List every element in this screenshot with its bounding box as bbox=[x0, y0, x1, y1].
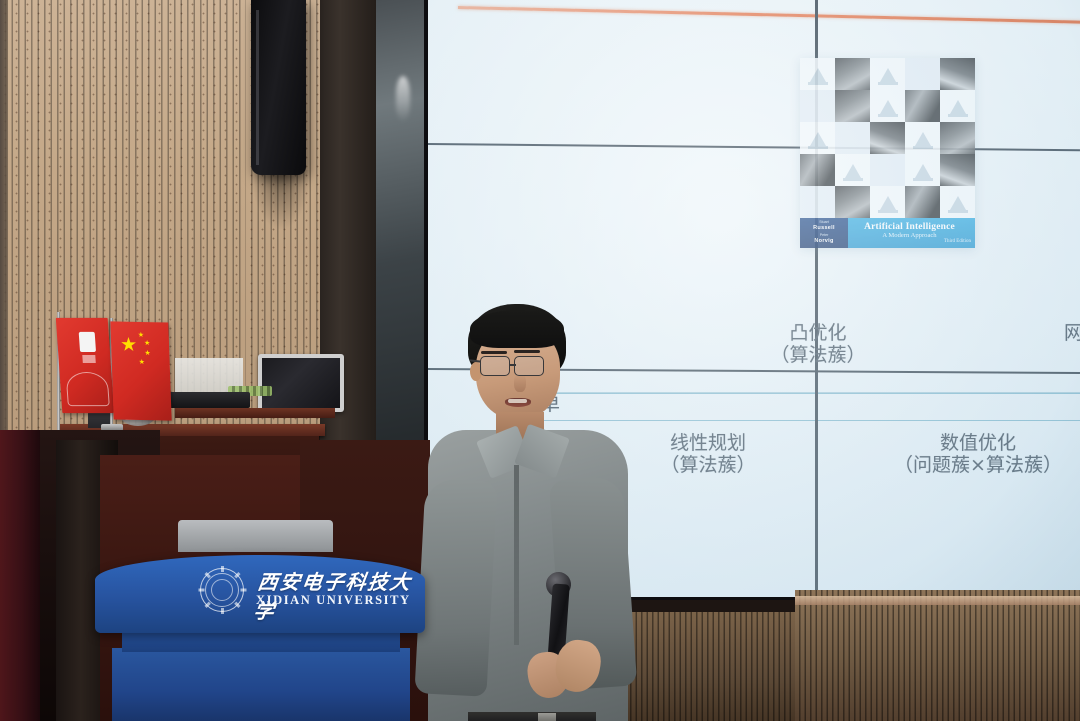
slide-label-linear-programming: 线性规划 （算法蔟） bbox=[618, 432, 798, 477]
flag-emblem-text bbox=[82, 355, 96, 363]
flag-star-small-1: ★ bbox=[138, 332, 145, 339]
book-title-block: Artificial Intelligence A Modern Approac… bbox=[848, 218, 975, 248]
presenter-belt bbox=[468, 712, 596, 721]
shirt-placket bbox=[514, 465, 519, 645]
presenter-eyebrow-left bbox=[481, 351, 507, 354]
presenter-teeth bbox=[508, 399, 527, 403]
podium-university-name-en: XIDIAN UNIVERSITY bbox=[256, 593, 431, 608]
numeric-subtitle: （问题蔟×算法蔟） bbox=[868, 454, 1080, 476]
linear-title: 线性规划 bbox=[618, 432, 798, 454]
linear-subtitle: （算法蔟） bbox=[618, 454, 798, 476]
slide-label-convex-optimization: 凸优化 （算法蔟） bbox=[748, 322, 888, 367]
slide-label-network-cropped: 网 bbox=[1064, 322, 1080, 344]
author-last-name-2: Norvig bbox=[814, 237, 833, 246]
wall-rail bbox=[795, 596, 1080, 605]
eyeglasses-lens-left bbox=[480, 356, 510, 376]
slide-horizontal-line-upper bbox=[428, 143, 1080, 151]
slide-label-numerical-optimization: 数值优化 （问题蔟×算法蔟） bbox=[868, 432, 1080, 477]
flag-star-small-2: ★ bbox=[144, 340, 151, 347]
convex-title: 凸优化 bbox=[748, 322, 888, 344]
presenter-hair-fringe bbox=[470, 310, 564, 348]
slide-accent-line bbox=[458, 6, 1080, 24]
numeric-title: 数值优化 bbox=[868, 432, 1080, 454]
belt-buckle bbox=[538, 713, 556, 721]
book-cover-photo-grid bbox=[800, 58, 975, 218]
flag-emblem-icon bbox=[79, 332, 96, 352]
laptop-icon[interactable] bbox=[178, 520, 333, 552]
eyeglasses-bridge bbox=[510, 364, 516, 366]
speaker-shadow bbox=[250, 170, 312, 230]
book-subtitle: A Modern Approach bbox=[882, 232, 936, 239]
author-last-name-1: Russell bbox=[813, 224, 835, 233]
presenter bbox=[410, 300, 640, 721]
speaker-edge-highlight bbox=[256, 10, 259, 165]
lecture-hall-photo: Stuart Russell Peter Norvig Artificial I… bbox=[0, 0, 1080, 721]
university-flag bbox=[56, 318, 115, 413]
flag-arc-mark bbox=[66, 372, 110, 406]
wall-panel-lower-right bbox=[795, 590, 1080, 721]
podium-body bbox=[112, 648, 410, 721]
curtain bbox=[0, 430, 40, 721]
flag-star-small-3: ★ bbox=[144, 350, 151, 357]
eyeglasses-lens-right bbox=[514, 356, 544, 376]
glass-highlight bbox=[396, 76, 410, 122]
university-seal-icon bbox=[200, 568, 244, 612]
book-authors: Stuart Russell Peter Norvig bbox=[800, 218, 848, 248]
convex-subtitle: （算法蔟） bbox=[748, 344, 888, 366]
china-national-flag: ★ ★ ★ ★ ★ bbox=[110, 321, 171, 420]
book-edition: Third Edition bbox=[944, 239, 971, 244]
desk-upper-surface bbox=[175, 408, 335, 418]
book-title: Artificial Intelligence bbox=[864, 222, 955, 232]
presenter-nose bbox=[514, 374, 526, 392]
seal-inner-ring bbox=[211, 579, 233, 601]
aima-book-cover: Stuart Russell Peter Norvig Artificial I… bbox=[800, 58, 975, 248]
book-title-banner: Stuart Russell Peter Norvig Artificial I… bbox=[800, 218, 975, 248]
wall-speaker-icon bbox=[251, 0, 306, 175]
flag-star-large: ★ bbox=[120, 336, 138, 355]
wall-monitor-icon bbox=[258, 354, 344, 412]
presenter-eyebrow-right bbox=[514, 350, 540, 353]
flag-star-small-4: ★ bbox=[139, 359, 146, 366]
wall-monitor-screen bbox=[262, 358, 340, 408]
